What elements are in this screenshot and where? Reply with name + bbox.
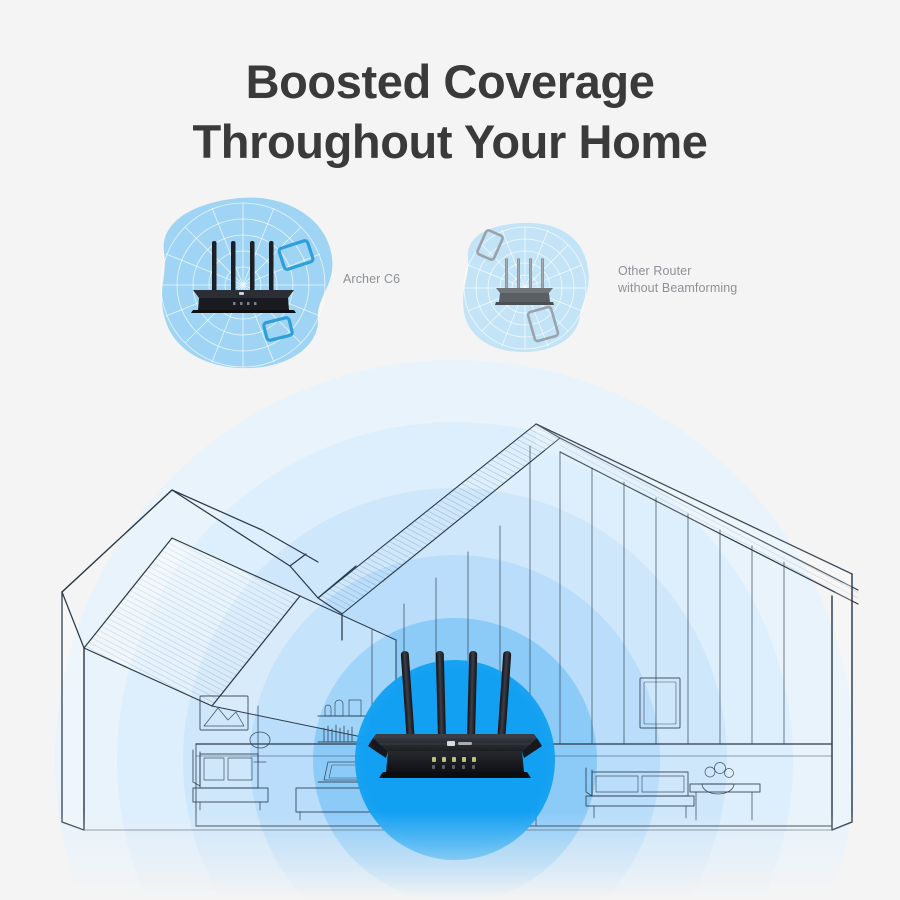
router-body (368, 734, 542, 778)
coverage-compare-other (463, 223, 589, 352)
promo-banner: Boosted Coverage Throughout Your Home Ar… (0, 0, 900, 900)
coverage-label-archer-c6: Archer C6 (343, 271, 400, 288)
coverage-compare-archer (161, 198, 332, 369)
coverage-label-other-router: Other Router without Beamforming (618, 263, 737, 297)
illustration-artboard (0, 0, 900, 900)
bottom-fade (0, 812, 900, 900)
wall-right-outer (832, 574, 852, 830)
